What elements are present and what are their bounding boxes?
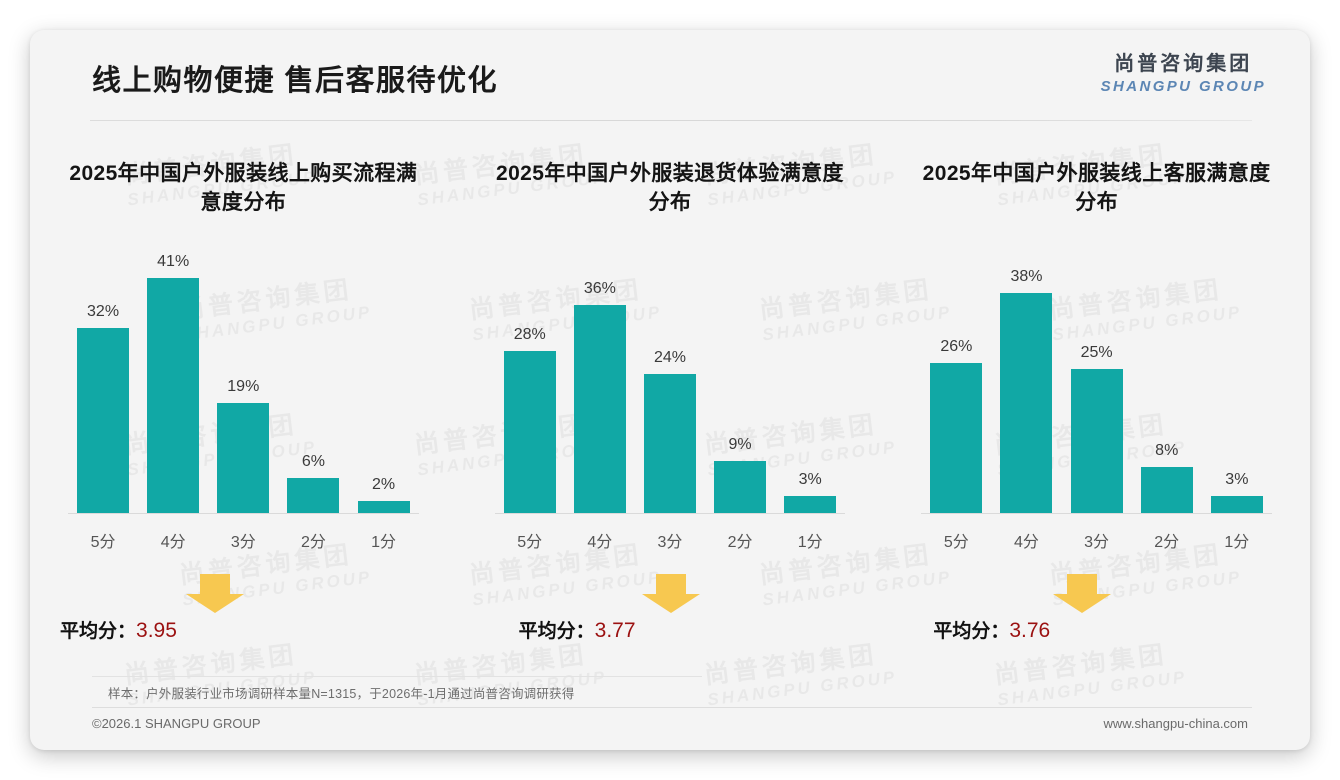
chart-plot-3: 26%38%25%8%3% <box>921 254 1272 514</box>
slide-header: 线上购物便捷 售后客服待优化 尚普咨询集团 SHANGPU GROUP <box>30 30 1310 120</box>
category-label: 3分 <box>1063 528 1130 552</box>
logo-chinese-text: 尚普咨询集团 <box>1101 54 1266 74</box>
bar-value-label: 28% <box>514 326 546 344</box>
average-block-1: 平均分：3.95 <box>30 574 457 654</box>
bar[interactable] <box>644 374 696 513</box>
footer-copyright: ©2026.1 SHANGPU GROUP <box>92 716 261 731</box>
chart-title-3: 2025年中国户外服装线上客服满意度分布 <box>913 160 1280 218</box>
footer-divider <box>92 707 1252 708</box>
average-value-2: 3.77 <box>595 619 636 642</box>
bar[interactable] <box>504 351 556 513</box>
bar[interactable] <box>930 363 982 513</box>
category-label: 4分 <box>140 528 207 552</box>
bar-slot: 9% <box>707 253 774 513</box>
category-label: 4分 <box>993 528 1060 552</box>
bar[interactable] <box>358 501 410 513</box>
charts-row: 2025年中国户外服装线上购买流程满意度分布 32%41%19%6%2% 5分4… <box>30 130 1310 654</box>
bar-slot: 3% <box>777 253 844 513</box>
category-label: 1分 <box>1204 528 1271 552</box>
chart-panel-2: 2025年中国户外服装退货体验满意度分布 28%36%24%9%3% 5分4分3… <box>457 130 884 654</box>
average-score-1: 平均分：3.95 <box>60 616 177 643</box>
bar-group-1: 32%41%19%6%2% <box>68 253 419 513</box>
bar-slot: 8% <box>1133 253 1200 513</box>
bar[interactable] <box>287 478 339 513</box>
bar[interactable] <box>1211 496 1263 513</box>
bar-slot: 3% <box>1204 253 1271 513</box>
bar-value-label: 38% <box>1010 268 1042 286</box>
category-label: 2分 <box>280 528 347 552</box>
bar[interactable] <box>574 305 626 513</box>
bar-value-label: 26% <box>940 338 972 356</box>
footer-website[interactable]: www.shangpu-china.com <box>1103 716 1248 731</box>
bar-value-label: 8% <box>1155 442 1178 460</box>
average-label-3: 平均分： <box>933 621 1009 642</box>
bar-slot: 24% <box>637 253 704 513</box>
x-axis-line-2 <box>495 513 846 514</box>
x-axis-line-1 <box>68 513 419 514</box>
bar-value-label: 24% <box>654 349 686 367</box>
page-title: 线上购物便捷 售后客服待优化 <box>92 57 498 99</box>
down-arrow-icon <box>184 574 246 614</box>
category-label: 1分 <box>350 528 417 552</box>
footnote-divider <box>92 676 702 677</box>
category-label: 4分 <box>567 528 634 552</box>
category-label: 5分 <box>496 528 563 552</box>
bar-value-label: 3% <box>799 471 822 489</box>
bar-slot: 28% <box>496 253 563 513</box>
bar-group-2: 28%36%24%9%3% <box>495 253 846 513</box>
bar-slot: 36% <box>567 253 634 513</box>
bar[interactable] <box>217 403 269 513</box>
category-label: 1分 <box>777 528 844 552</box>
bar-slot: 19% <box>210 253 277 513</box>
chart-panel-3: 2025年中国户外服装线上客服满意度分布 26%38%25%8%3% 5分4分3… <box>883 130 1310 654</box>
bar[interactable] <box>1071 369 1123 513</box>
average-block-2: 平均分：3.77 <box>457 574 884 654</box>
bar[interactable] <box>1000 293 1052 513</box>
category-label: 2分 <box>707 528 774 552</box>
bar[interactable] <box>77 328 129 513</box>
bar-slot: 6% <box>280 253 347 513</box>
category-labels-1: 5分4分3分2分1分 <box>68 514 419 552</box>
average-score-2: 平均分：3.77 <box>519 616 636 643</box>
bar-value-label: 3% <box>1225 471 1248 489</box>
average-block-3: 平均分：3.76 <box>883 574 1310 654</box>
bar-slot: 26% <box>923 253 990 513</box>
bar-slot: 25% <box>1063 253 1130 513</box>
category-labels-3: 5分4分3分2分1分 <box>921 514 1272 552</box>
chart-title-2: 2025年中国户外服装退货体验满意度分布 <box>487 160 854 218</box>
average-value-3: 3.76 <box>1009 619 1050 642</box>
x-axis-line-3 <box>921 513 1272 514</box>
chart-plot-2: 28%36%24%9%3% <box>495 254 846 514</box>
bar[interactable] <box>714 461 766 513</box>
bar-slot: 41% <box>140 253 207 513</box>
slide-footer: ©2026.1 SHANGPU GROUP www.shangpu-china.… <box>30 716 1310 750</box>
bar-value-label: 32% <box>87 303 119 321</box>
slide: 线上购物便捷 售后客服待优化 尚普咨询集团 SHANGPU GROUP 尚普咨询… <box>30 30 1310 750</box>
bar-value-label: 25% <box>1081 344 1113 362</box>
category-label: 5分 <box>70 528 137 552</box>
bar[interactable] <box>1141 467 1193 513</box>
bar-value-label: 2% <box>372 476 395 494</box>
bar-group-3: 26%38%25%8%3% <box>921 253 1272 513</box>
category-label: 3分 <box>210 528 277 552</box>
footnote-text: 样本：户外服装行业市场调研样本量N=1315，于2026年-1月通过尚普咨询调研… <box>108 683 574 702</box>
category-label: 5分 <box>923 528 990 552</box>
down-arrow-icon <box>1051 574 1113 614</box>
average-value-1: 3.95 <box>136 619 177 642</box>
bar[interactable] <box>147 278 199 513</box>
category-label: 3分 <box>637 528 704 552</box>
bar-value-label: 41% <box>157 253 189 271</box>
chart-title-1: 2025年中国户外服装线上购买流程满意度分布 <box>60 160 427 218</box>
average-label-1: 平均分： <box>60 621 136 642</box>
bar-value-label: 6% <box>302 453 325 471</box>
bar-value-label: 19% <box>227 378 259 396</box>
brand-logo: 尚普咨询集团 SHANGPU GROUP <box>1101 54 1266 94</box>
chart-plot-1: 32%41%19%6%2% <box>68 254 419 514</box>
category-label: 2分 <box>1133 528 1200 552</box>
logo-english-text: SHANGPU GROUP <box>1101 79 1266 94</box>
down-arrow-icon <box>640 574 702 614</box>
bar-value-label: 36% <box>584 280 616 298</box>
bar-slot: 32% <box>70 253 137 513</box>
bar-value-label: 9% <box>729 436 752 454</box>
average-label-2: 平均分： <box>519 621 595 642</box>
bar-slot: 2% <box>350 253 417 513</box>
header-divider <box>90 120 1252 121</box>
chart-panel-1: 2025年中国户外服装线上购买流程满意度分布 32%41%19%6%2% 5分4… <box>30 130 457 654</box>
average-score-3: 平均分：3.76 <box>933 616 1050 643</box>
bar-slot: 38% <box>993 253 1060 513</box>
bar[interactable] <box>784 496 836 513</box>
category-labels-2: 5分4分3分2分1分 <box>495 514 846 552</box>
